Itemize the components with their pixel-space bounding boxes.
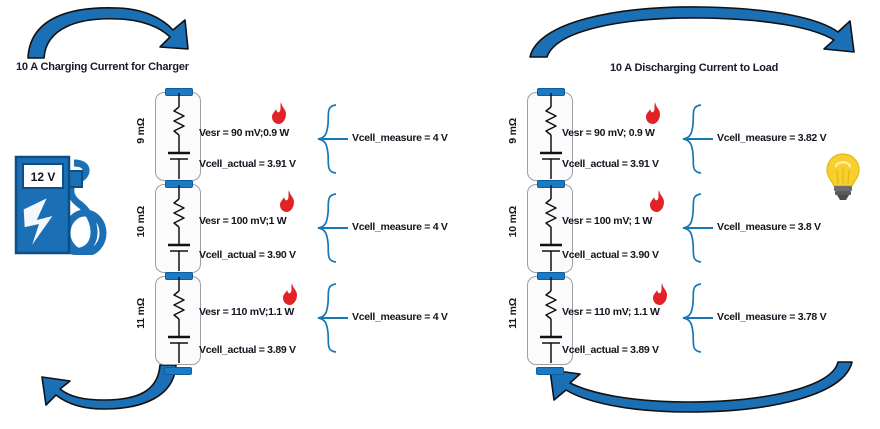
flame-icon bbox=[281, 283, 301, 307]
measure-stem-cell-2 bbox=[683, 227, 713, 229]
vcell-actual-label-cell-1: Vcell_actual = 3.91 V bbox=[562, 158, 659, 170]
arc-arrow-bottom-left-icon bbox=[22, 363, 222, 421]
battery-cell bbox=[155, 184, 201, 273]
measure-stem-cell-1 bbox=[683, 138, 713, 140]
vcell-actual-label-cell-3: Vcell_actual = 3.89 V bbox=[562, 344, 659, 356]
flame-icon bbox=[270, 102, 290, 126]
vcell-measure-label-cell-1: Vcell_measure = 4 V bbox=[352, 132, 448, 144]
flame-icon bbox=[644, 102, 664, 126]
cell-circuit-symbol bbox=[156, 277, 202, 363]
battery-cell bbox=[155, 276, 201, 365]
vesr-label-cell-3: Vesr = 110 mV;1.1 W bbox=[199, 306, 294, 318]
vesr-label-cell-1: Vesr = 90 mV;0.9 W bbox=[199, 127, 289, 139]
esr-label-cell-3: 11 mΩ bbox=[135, 298, 147, 329]
flame-icon bbox=[648, 190, 668, 214]
vcell-measure-label-cell-2: Vcell_measure = 4 V bbox=[352, 221, 448, 233]
charging-section-title: 10 A Charging Current for Charger bbox=[16, 61, 189, 73]
light-bulb-icon bbox=[824, 152, 862, 202]
vesr-label-cell-1: Vesr = 90 mV; 0.9 W bbox=[562, 127, 655, 139]
cell-circuit-symbol bbox=[156, 185, 202, 271]
flame-icon bbox=[651, 283, 671, 307]
vcell-actual-label-cell-3: Vcell_actual = 3.89 V bbox=[199, 344, 296, 356]
battery-cell bbox=[155, 92, 201, 181]
measure-stem-cell-3 bbox=[683, 317, 713, 319]
measure-stem-cell-3 bbox=[318, 317, 348, 319]
vcell-measure-label-cell-1: Vcell_measure = 3.82 V bbox=[717, 132, 826, 144]
vcell-actual-label-cell-1: Vcell_actual = 3.91 V bbox=[199, 158, 296, 170]
cell-circuit-symbol bbox=[156, 93, 202, 179]
cell-terminal-bottom bbox=[164, 367, 192, 375]
vesr-label-cell-3: Vesr = 110 mV; 1.1 W bbox=[562, 306, 660, 318]
discharging-section-title: 10 A Discharging Current to Load bbox=[610, 62, 778, 74]
esr-label-cell-1: 9 mΩ bbox=[507, 118, 519, 144]
esr-label-cell-2: 10 mΩ bbox=[135, 206, 147, 237]
arc-arrow-bottom-right-icon bbox=[530, 358, 870, 420]
vcell-actual-label-cell-2: Vcell_actual = 3.90 V bbox=[199, 249, 296, 261]
esr-label-cell-3: 11 mΩ bbox=[507, 298, 519, 329]
measure-stem-cell-2 bbox=[318, 227, 348, 229]
charging-station-icon: 12 V bbox=[14, 135, 118, 255]
battery-esr-diagram: 10 A Charging Current for Charger 10 A D… bbox=[0, 0, 880, 429]
cell-terminal-bottom bbox=[536, 367, 564, 375]
esr-label-cell-2: 10 mΩ bbox=[507, 206, 519, 237]
charging-cell-stack bbox=[155, 92, 201, 368]
flame-icon bbox=[278, 190, 298, 214]
vcell-measure-label-cell-2: Vcell_measure = 3.8 V bbox=[717, 221, 821, 233]
esr-label-cell-1: 9 mΩ bbox=[135, 118, 147, 144]
vcell-actual-label-cell-2: Vcell_actual = 3.90 V bbox=[562, 249, 659, 261]
vcell-measure-label-cell-3: Vcell_measure = 3.78 V bbox=[717, 311, 826, 323]
vesr-label-cell-2: Vesr = 100 mV; 1 W bbox=[562, 215, 652, 227]
vcell-measure-label-cell-3: Vcell_measure = 4 V bbox=[352, 311, 448, 323]
vesr-label-cell-2: Vesr = 100 mV;1 W bbox=[199, 215, 286, 227]
charger-voltage-label: 12 V bbox=[31, 170, 56, 184]
measure-stem-cell-1 bbox=[318, 138, 348, 140]
arc-arrow-top-right-icon bbox=[520, 2, 868, 60]
arc-arrow-top-left-icon bbox=[10, 2, 210, 60]
